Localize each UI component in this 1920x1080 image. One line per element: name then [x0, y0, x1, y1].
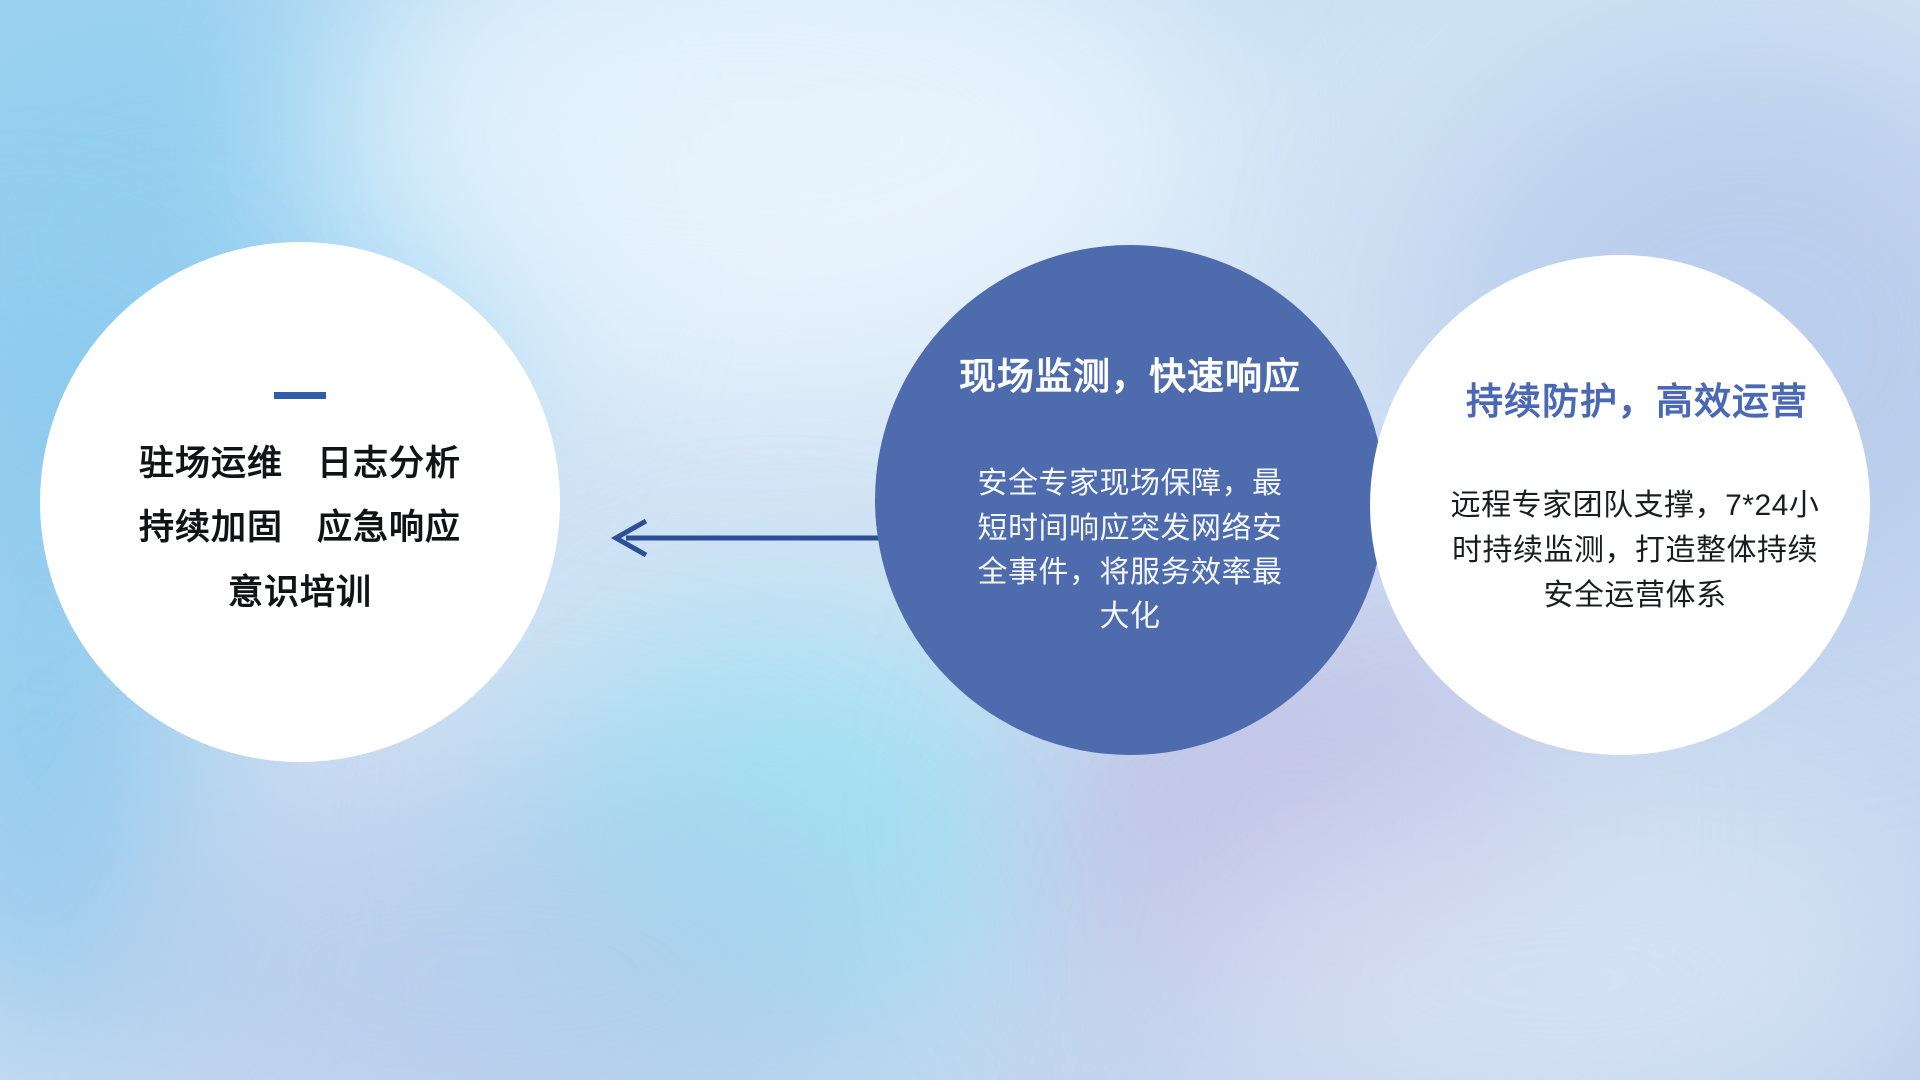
capability-tag: 驻场运维 — [139, 445, 283, 484]
circle-center-title: 现场监测，快速响应 — [959, 346, 1301, 400]
capability-tag: 持续加固 — [139, 509, 283, 548]
circle-right-title: 持续防护，高效运营 — [1466, 371, 1808, 425]
capability-tag: 日志分析 — [317, 445, 461, 484]
background-blob-white-bottom — [1180, 780, 1920, 1080]
capability-tag: 意识培训 — [228, 574, 372, 613]
capability-tag-row: 持续加固 应急响应 — [139, 509, 461, 548]
circle-center-body: 安全专家现场保障，最短时间响应突发网络安全事件，将服务效率最大化 — [965, 462, 1295, 640]
circle-onsite-monitoring: 现场监测，快速响应 安全专家现场保障，最短时间响应突发网络安全事件，将服务效率最… — [875, 245, 1385, 755]
background-blob-blue-bottom-left — [80, 760, 900, 1080]
circle-capabilities: 驻场运维 日志分析 持续加固 应急响应 意识培训 — [40, 242, 560, 762]
capability-tag-list: 驻场运维 日志分析 持续加固 应急响应 意识培训 — [139, 445, 461, 613]
circle-right-body: 远程专家团队支撑，7*24小时持续监测，打造整体持续安全运营体系 — [1446, 483, 1824, 618]
capability-tag-row: 意识培训 — [228, 574, 372, 613]
circle-continuous-protection: 持续防护，高效运营 远程专家团队支撑，7*24小时持续监测，打造整体持续安全运营… — [1370, 255, 1870, 755]
capability-tag-row: 驻场运维 日志分析 — [139, 445, 461, 484]
capability-tag: 应急响应 — [317, 509, 461, 548]
horizontal-dash-icon — [274, 392, 326, 399]
arrow-left-icon — [600, 516, 900, 560]
